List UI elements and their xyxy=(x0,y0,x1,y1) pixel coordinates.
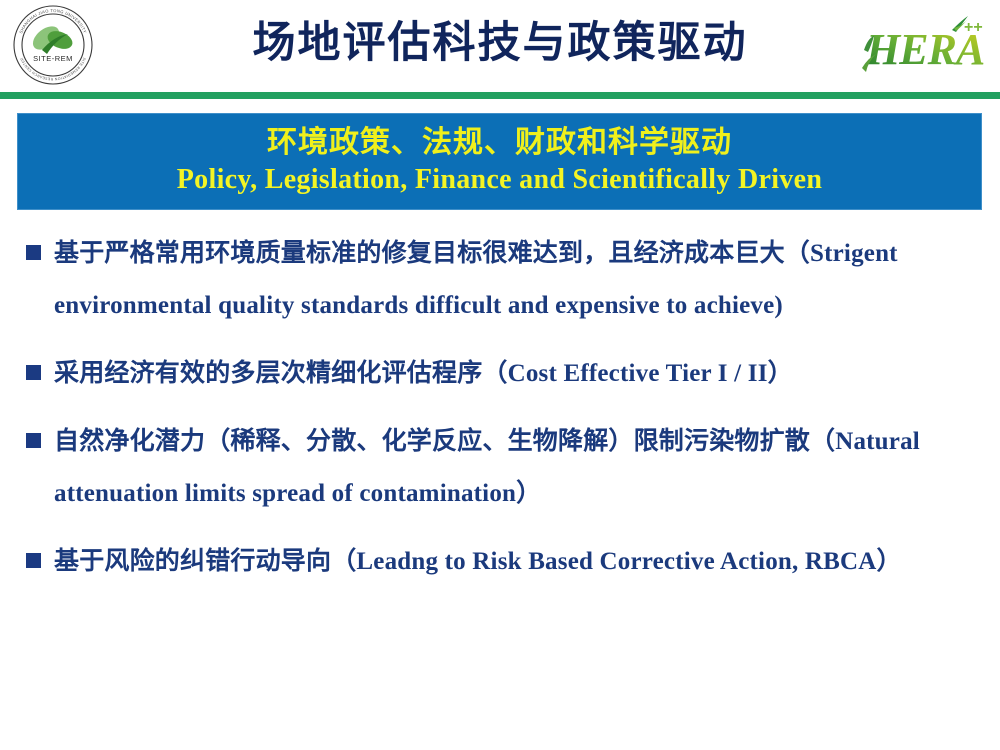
section-banner: 环境政策、法规、财政和科学驱动 Policy, Legislation, Fin… xyxy=(17,113,982,210)
page-title: 场地评估科技与政策驱动 xyxy=(0,0,1000,88)
bullet-cost-effective-tier: 采用经济有效的多层次精细化评估程序（Cost Effective Tier I … xyxy=(54,348,976,400)
list-item: 自然净化潜力（稀释、分散、化学反应、生物降解）限制污染物扩散（Natural a… xyxy=(26,416,976,520)
list-item: 基于风险的纠错行动导向（Leadng to Risk Based Correct… xyxy=(26,536,976,588)
slide: SITE-REM SHANGHAI JIAO TONG UNIVERSITY S… xyxy=(0,0,1000,750)
banner-title-english: Policy, Legislation, Finance and Scienti… xyxy=(177,163,822,197)
svg-text:++: ++ xyxy=(964,19,983,36)
bullet-list: 基于严格常用环境质量标准的修复目标很难达到，且经济成本巨大（Strigent e… xyxy=(0,228,1000,740)
square-bullet-icon xyxy=(26,553,41,568)
square-bullet-icon xyxy=(26,245,41,260)
header-divider xyxy=(0,92,1000,99)
bullet-risk-based-corrective-action: 基于风险的纠错行动导向（Leadng to Risk Based Correct… xyxy=(54,536,976,588)
bullet-natural-attenuation: 自然净化潜力（稀释、分散、化学反应、生物降解）限制污染物扩散（Natural a… xyxy=(54,416,976,520)
bullet-stringent-standards: 基于严格常用环境质量标准的修复目标很难达到，且经济成本巨大（Strigent e… xyxy=(54,228,976,332)
banner-title-chinese: 环境政策、法规、财政和科学驱动 xyxy=(267,126,732,161)
square-bullet-icon xyxy=(26,433,41,448)
square-bullet-icon xyxy=(26,365,41,380)
hera-logo: HERA ++ xyxy=(856,6,986,82)
slide-header: SITE-REM SHANGHAI JIAO TONG UNIVERSITY S… xyxy=(0,0,1000,95)
list-item: 基于严格常用环境质量标准的修复目标很难达到，且经济成本巨大（Strigent e… xyxy=(26,228,976,332)
list-item: 采用经济有效的多层次精细化评估程序（Cost Effective Tier I … xyxy=(26,348,976,400)
